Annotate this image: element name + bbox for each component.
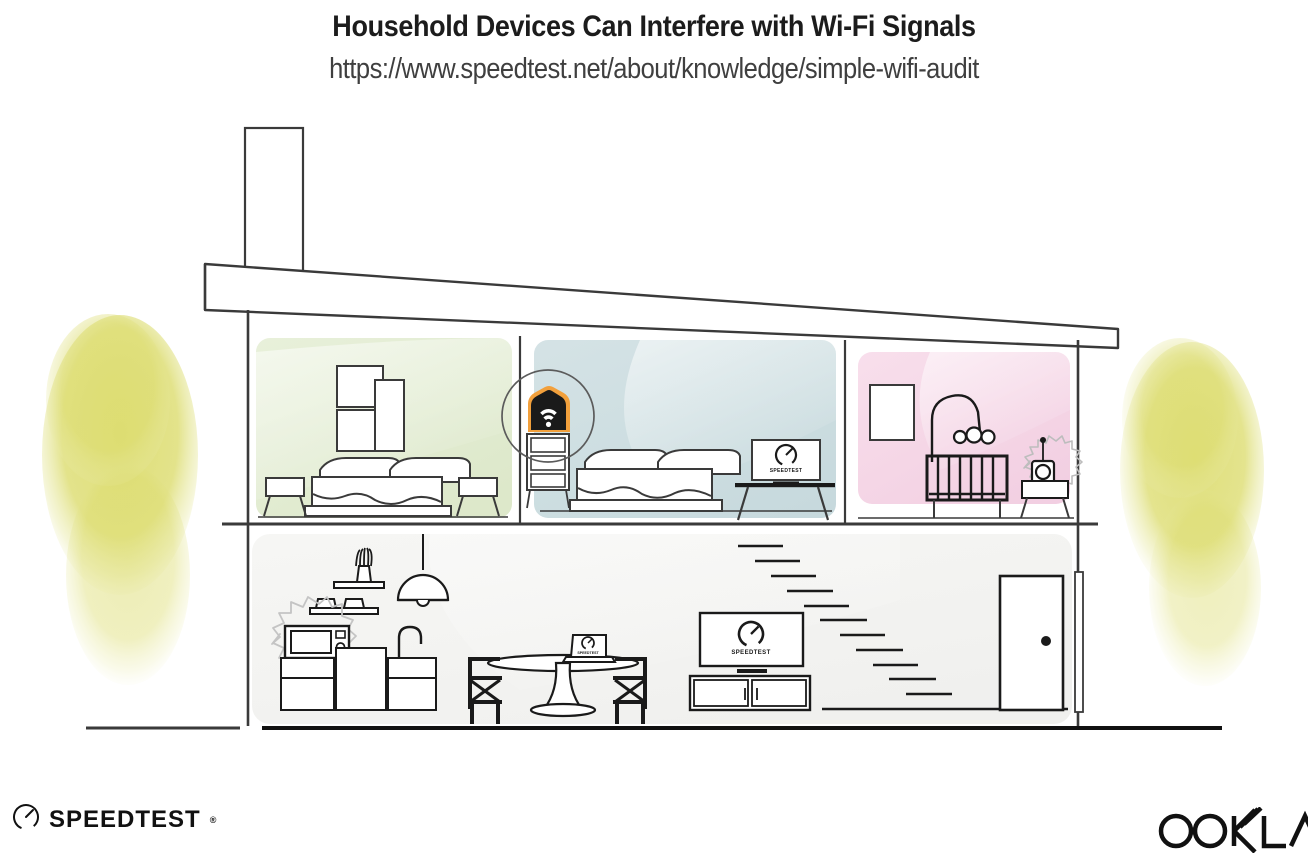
picture-frame-nursery	[870, 385, 914, 440]
door-knob	[1041, 636, 1051, 646]
television-group[interactable]: SPEEDTEST	[700, 613, 803, 673]
footer: SPEEDTEST ®	[0, 781, 1308, 861]
foliage-left	[42, 314, 198, 685]
roof	[205, 264, 1118, 348]
television-screen-label: SPEEDTEST	[731, 650, 770, 656]
monitor-screen-label: SPEEDTEST	[770, 468, 802, 474]
registered-mark: ®	[210, 815, 217, 825]
speedtest-wordmark: SPEEDTEST	[49, 806, 201, 834]
infographic-page: Household Devices Can Interfere with Wi-…	[0, 0, 1308, 861]
speedtest-logo[interactable]: SPEEDTEST ®	[12, 803, 216, 836]
speedometer-gauge-icon	[12, 803, 40, 836]
room-bedroom-blue: SPEEDTEST	[502, 340, 836, 520]
monitor[interactable]: SPEEDTEST	[752, 440, 820, 485]
front-door[interactable]	[1000, 576, 1063, 710]
ookla-logo[interactable]	[1154, 807, 1308, 853]
house-illustration: SPEEDTEST	[0, 0, 1308, 790]
foliage-right	[1120, 338, 1264, 686]
chimney	[245, 128, 303, 276]
room-nursery-pink	[858, 352, 1082, 518]
media-cabinet	[690, 676, 810, 710]
room-bedroom-green	[256, 338, 512, 518]
room-downstairs: SPEEDTEST	[252, 534, 1083, 724]
laptop-screen-label: SPEEDTEST	[577, 651, 599, 655]
